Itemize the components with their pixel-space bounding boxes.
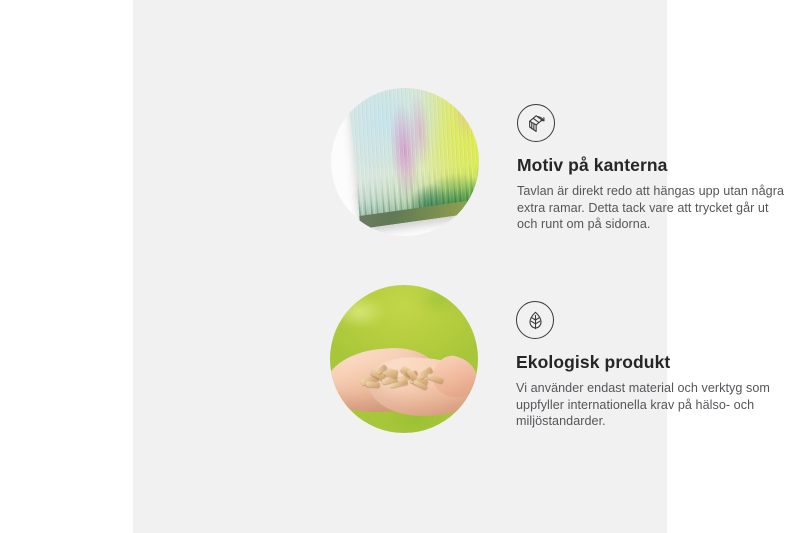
feature-title: Motiv på kanterna — [517, 155, 787, 176]
feature-body: Vi använder endast material och verktyg … — [516, 380, 786, 430]
feature-body: Tavlan är direkt redo att hängas upp uta… — [517, 183, 787, 233]
eco-hands-photo — [330, 285, 478, 433]
feature-text-canvas-edge: Motiv på kanterna Tavlan är direkt redo … — [517, 88, 787, 233]
canvas-print-photo — [331, 88, 479, 236]
feature-text-eco-product: Ekologisk produkt Vi använder endast mat… — [516, 285, 786, 430]
canvas-wrapped-edge-icon — [517, 104, 555, 142]
wood-chips-pile — [359, 367, 447, 390]
feature-row-eco-product: Ekologisk produkt Vi använder endast mat… — [330, 285, 786, 433]
leaf-icon — [516, 301, 554, 339]
feature-row-canvas-edge: Motiv på kanterna Tavlan är direkt redo … — [331, 88, 787, 236]
feature-title: Ekologisk produkt — [516, 352, 786, 373]
hands-group — [330, 344, 478, 421]
page-root: Motiv på kanterna Tavlan är direkt redo … — [0, 0, 800, 533]
content-panel: Motiv på kanterna Tavlan är direkt redo … — [133, 0, 667, 533]
canvas-block — [347, 88, 479, 229]
